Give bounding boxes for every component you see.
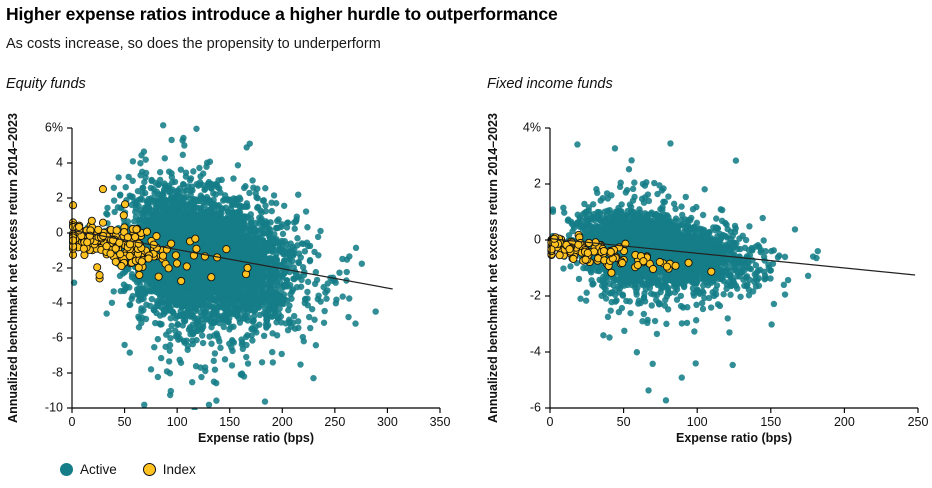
y-tick-label: -8: [52, 365, 63, 379]
panel-fixed-income-funds: 4%20-2-4-6050100150200250Expense ratio (…: [486, 113, 928, 445]
x-tick-label: 350: [430, 415, 451, 429]
y-tick-label: -10: [45, 400, 63, 414]
x-tick-label: 0: [547, 415, 554, 429]
panel-equity-funds: 6%420-2-4-6-8-10050100150200250300350Exp…: [6, 113, 450, 445]
y-tick-label: 4%: [523, 120, 541, 134]
y-tick-label: 4: [56, 155, 63, 169]
x-axis-title: Expense ratio (bps): [198, 431, 314, 445]
points-layer: [548, 140, 915, 403]
chart-page: Higher expense ratios introduce a higher…: [0, 0, 932, 488]
y-tick-label: -2: [52, 260, 63, 274]
x-tick-label: 200: [834, 415, 855, 429]
series-active: [550, 140, 821, 403]
x-tick-label: 150: [219, 415, 240, 429]
y-tick-label: -4: [52, 295, 63, 309]
series-active: [71, 122, 379, 418]
y-tick-label: -6: [530, 400, 541, 414]
x-tick-label: 250: [324, 415, 345, 429]
y-tick-label: -6: [52, 330, 63, 344]
y-tick-label: 2: [534, 176, 541, 190]
y-tick-label: 6%: [45, 120, 63, 134]
legend-item-active[interactable]: Active: [60, 462, 117, 477]
y-tick-label: 0: [56, 225, 63, 239]
y-axis-title: Annualized benchmark net excess return 2…: [6, 113, 20, 423]
x-tick-label: 150: [760, 415, 781, 429]
x-tick-label: 200: [272, 415, 293, 429]
x-tick-label: 250: [908, 415, 929, 429]
y-tick-label: -2: [530, 288, 541, 302]
x-tick-label: 0: [69, 415, 76, 429]
legend-swatch-index-icon: [143, 463, 156, 476]
points-layer: [69, 122, 392, 418]
legend-label-active: Active: [80, 462, 117, 477]
x-tick-label: 100: [687, 415, 708, 429]
legend-item-index[interactable]: Index: [143, 462, 196, 477]
x-axis-title: Expense ratio (bps): [676, 431, 792, 445]
x-tick-label: 50: [118, 415, 132, 429]
y-tick-label: 0: [534, 232, 541, 246]
x-tick-label: 300: [377, 415, 398, 429]
x-tick-label: 100: [167, 415, 188, 429]
y-axis-title: Annualized benchmark net excess return 2…: [486, 113, 500, 423]
x-tick-label: 50: [617, 415, 631, 429]
legend-label-index: Index: [163, 462, 196, 477]
legend-swatch-active-icon: [60, 463, 73, 476]
y-tick-label: -4: [530, 344, 541, 358]
y-tick-label: 2: [56, 190, 63, 204]
scatter-chart-canvas: 6%420-2-4-6-8-10050100150200250300350Exp…: [0, 0, 932, 488]
chart-legend: Active Index: [60, 462, 196, 477]
